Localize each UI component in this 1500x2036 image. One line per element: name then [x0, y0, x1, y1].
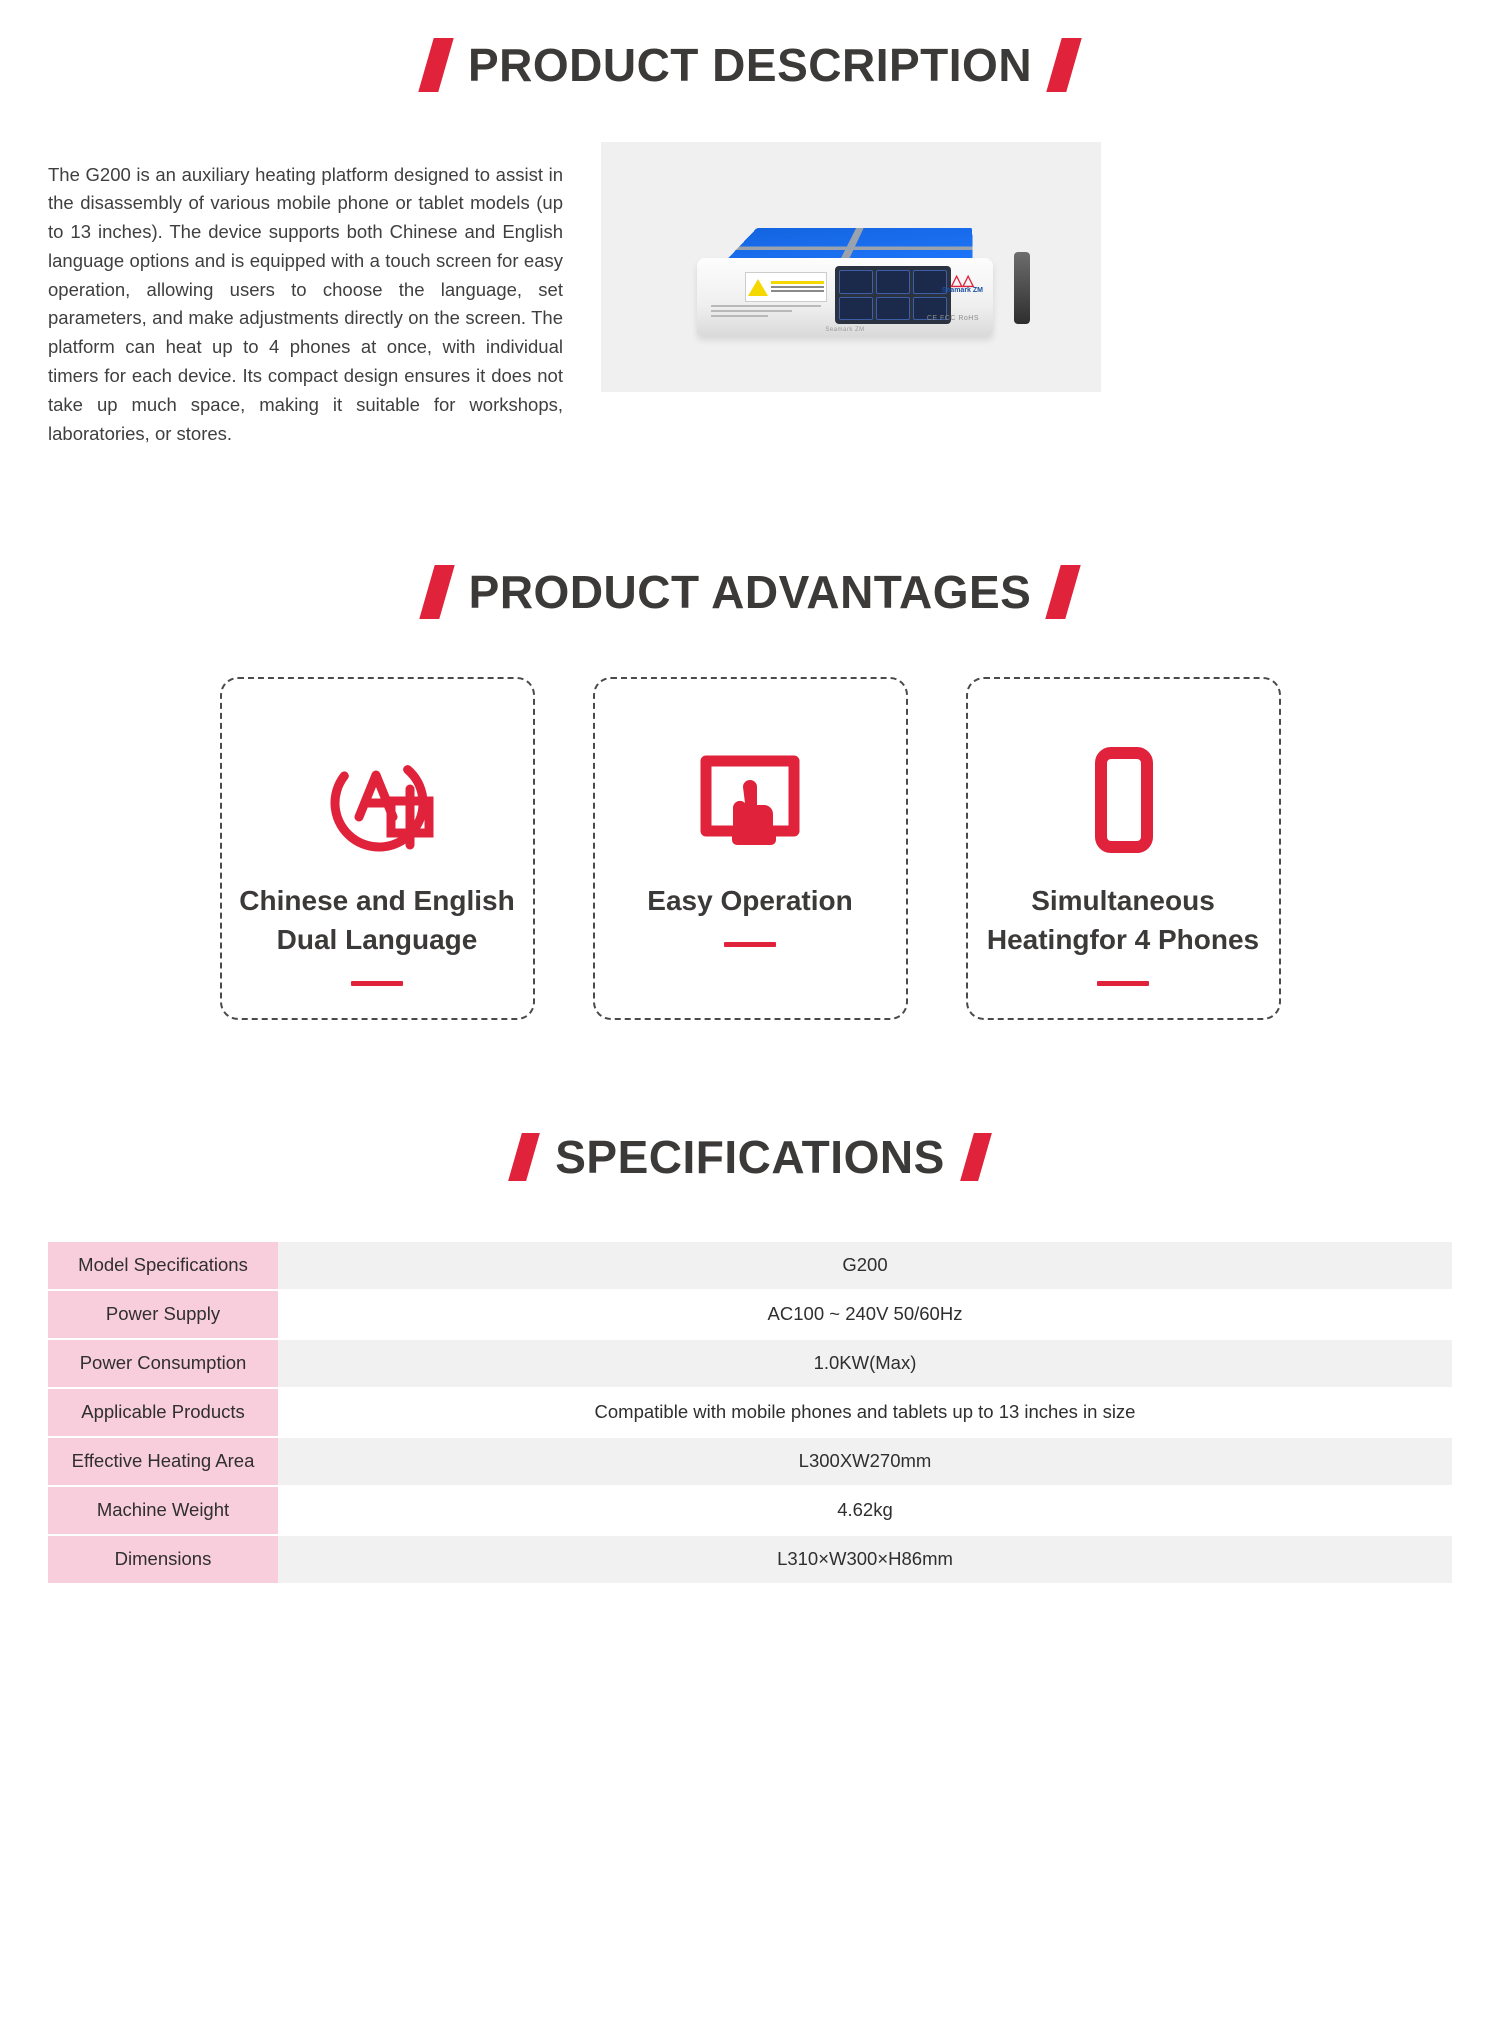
- touch-screen-icon: [688, 745, 812, 855]
- table-row: Power Supply AC100 ~ 240V 50/60Hz: [48, 1290, 1452, 1339]
- spec-value: L300XW270mm: [278, 1437, 1452, 1486]
- spec-key: Dimensions: [48, 1535, 278, 1584]
- warning-triangle-icon: [748, 279, 768, 296]
- page-title: PRODUCT DESCRIPTION: [468, 38, 1032, 92]
- slash-accent-right-icon: [960, 1133, 992, 1181]
- spec-value: 4.62kg: [278, 1486, 1452, 1535]
- specifications-table: Model Specifications G200 Power Supply A…: [48, 1242, 1452, 1585]
- specifications-title: SPECIFICATIONS: [555, 1130, 945, 1184]
- panel-cell: [876, 297, 910, 321]
- brand-name: Seamark ZM: [942, 287, 983, 294]
- advantage-label: Chinese and English Dual Language: [235, 881, 518, 959]
- advantage-card-simultaneous-heating[interactable]: Simultaneous Heatingfor 4 Phones: [966, 677, 1281, 1020]
- spec-key: Machine Weight: [48, 1486, 278, 1535]
- advantage-underline: [1097, 981, 1149, 986]
- advantage-label: Easy Operation: [643, 881, 856, 920]
- advantage-underline: [724, 942, 776, 947]
- slash-accent-left-icon: [418, 38, 453, 92]
- brand-logo: △△ Seamark ZM: [942, 274, 983, 294]
- product-advantages-heading: PRODUCT ADVANTAGES: [0, 565, 1500, 619]
- slash-accent-right-icon: [1046, 565, 1081, 619]
- warning-sticker-icon: [745, 272, 827, 302]
- table-row: Machine Weight 4.62kg: [48, 1486, 1452, 1535]
- slash-accent-right-icon: [1046, 38, 1081, 92]
- panel-cell: [876, 270, 910, 294]
- panel-cell: [839, 270, 873, 294]
- device-side-handle: [1014, 252, 1030, 324]
- slash-accent-left-icon: [419, 565, 454, 619]
- advantage-cards: Chinese and English Dual Language Easy O…: [0, 619, 1500, 1020]
- product-photo: △△ Seamark ZM CE FCC RoHS Seamark ZM: [601, 142, 1101, 392]
- specifications-heading: SPECIFICATIONS: [0, 1130, 1500, 1184]
- spec-key: Effective Heating Area: [48, 1437, 278, 1486]
- device-spec-text-lines: [711, 305, 821, 320]
- spec-value: Compatible with mobile phones and tablet…: [278, 1388, 1452, 1437]
- device-brand-footer: Seamark ZM: [825, 327, 864, 333]
- specifications-section: SPECIFICATIONS Model Specifications G200…: [0, 1130, 1500, 1585]
- spec-value: G200: [278, 1242, 1452, 1290]
- spec-key: Applicable Products: [48, 1388, 278, 1437]
- product-description-section: PRODUCT DESCRIPTION The G200 is an auxil…: [0, 0, 1500, 467]
- spec-key: Power Supply: [48, 1290, 278, 1339]
- certification-marks: CE FCC RoHS: [927, 315, 979, 322]
- device-illustration: △△ Seamark ZM CE FCC RoHS Seamark ZM: [697, 186, 1017, 361]
- product-advantages-section: PRODUCT ADVANTAGES Chinese and English D…: [0, 565, 1500, 1020]
- spec-key: Model Specifications: [48, 1242, 278, 1290]
- advantages-title: PRODUCT ADVANTAGES: [469, 565, 1032, 619]
- table-row: Dimensions L310×W300×H86mm: [48, 1535, 1452, 1584]
- advantage-card-dual-language[interactable]: Chinese and English Dual Language: [220, 677, 535, 1020]
- language-translate-icon: [315, 745, 439, 855]
- advantage-underline: [351, 981, 403, 986]
- advantage-card-easy-operation[interactable]: Easy Operation: [593, 677, 908, 1020]
- phone-icon: [1061, 745, 1185, 855]
- description-body: The G200 is an auxiliary heating platfor…: [0, 92, 1500, 467]
- description-paragraph: The G200 is an auxiliary heating platfor…: [48, 161, 563, 449]
- spec-key: Power Consumption: [48, 1339, 278, 1388]
- slash-accent-left-icon: [508, 1133, 540, 1181]
- warning-text-lines: [771, 281, 824, 294]
- product-description-heading: PRODUCT DESCRIPTION: [0, 38, 1500, 92]
- device-front-body: △△ Seamark ZM CE FCC RoHS Seamark ZM: [697, 258, 993, 336]
- advantage-label: Simultaneous Heatingfor 4 Phones: [983, 881, 1263, 959]
- specifications-table-body: Model Specifications G200 Power Supply A…: [48, 1242, 1452, 1584]
- table-row: Applicable Products Compatible with mobi…: [48, 1388, 1452, 1437]
- table-row: Effective Heating Area L300XW270mm: [48, 1437, 1452, 1486]
- spec-value: 1.0KW(Max): [278, 1339, 1452, 1388]
- spec-value: L310×W300×H86mm: [278, 1535, 1452, 1584]
- spec-value: AC100 ~ 240V 50/60Hz: [278, 1290, 1452, 1339]
- panel-cell: [839, 297, 873, 321]
- brand-mark-icon: △△: [942, 274, 983, 287]
- table-row: Model Specifications G200: [48, 1242, 1452, 1290]
- table-row: Power Consumption 1.0KW(Max): [48, 1339, 1452, 1388]
